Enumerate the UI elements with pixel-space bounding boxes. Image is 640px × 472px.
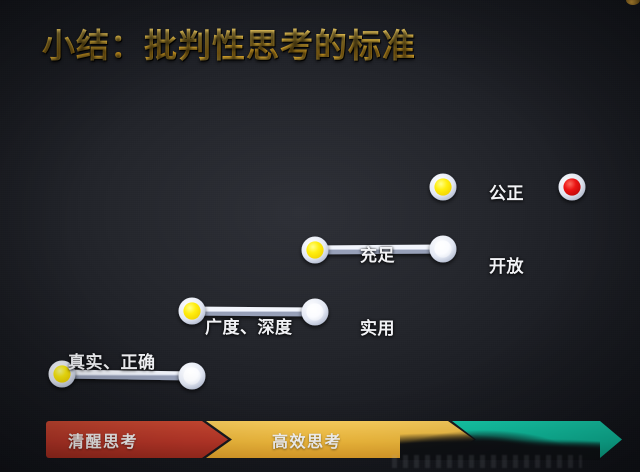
progress-segment-3[interactable]: [452, 421, 622, 458]
diagram-label-fairness-openness: 公正 开放: [489, 134, 524, 327]
diagram-label-breadth-depth: 广度、深度: [205, 268, 293, 389]
node-step-3[interactable]: [430, 174, 457, 201]
node-corner-2[interactable]: [302, 299, 329, 326]
node-end[interactable]: [559, 174, 586, 201]
progress-segment-1[interactable]: 清醒思考: [46, 421, 228, 458]
diagram-label-sufficiency-practicality: 充足 实用: [360, 196, 395, 389]
label-line-2: 开放: [489, 255, 524, 279]
label-line-1: 真实、正确: [68, 351, 156, 375]
slide-canvas: 小结：批判性思考的标准 小结：批判性思考的标准: [0, 0, 640, 472]
progress-segment-1-label: 清醒思考: [68, 428, 138, 452]
node-step-1[interactable]: [179, 298, 206, 325]
label-line-2: 实用: [360, 317, 395, 341]
label-line-1: 公正: [489, 182, 524, 206]
progress-segment-2-label: 高效思考: [272, 428, 342, 452]
label-line-1: 广度、深度: [205, 316, 293, 340]
stage-progress-bar: 高效思考 清醒思考: [46, 421, 622, 458]
progress-segment-2[interactable]: 高效思考: [206, 421, 474, 458]
label-line-1: 充足: [360, 244, 395, 268]
node-corner-3[interactable]: [430, 236, 457, 263]
node-corner-1[interactable]: [179, 363, 206, 390]
node-step-2[interactable]: [302, 237, 329, 264]
